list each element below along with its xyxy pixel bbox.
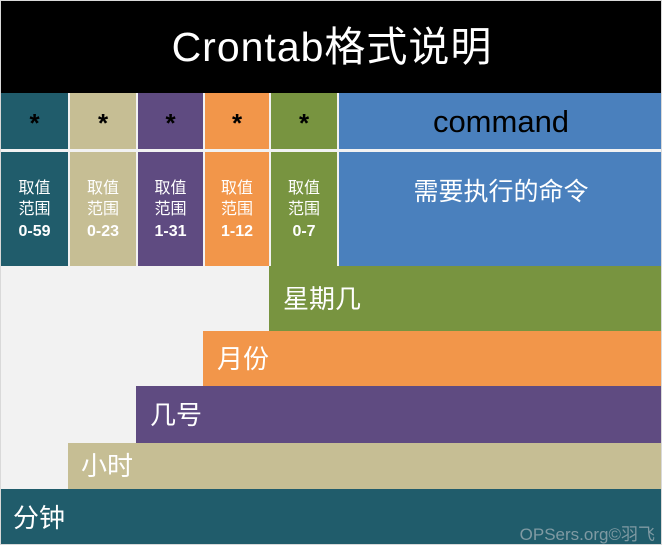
column-separator-4: [269, 93, 271, 266]
star-cell-hour: *: [70, 93, 136, 149]
range-label-line1-hour: 取值: [87, 178, 119, 199]
asterisk-icon-month: *: [232, 110, 242, 136]
band-label-month: 月份: [217, 346, 269, 372]
command-header-label: command: [433, 106, 569, 137]
column-separator-3: [203, 93, 205, 266]
range-value-minute: 0-59: [18, 221, 50, 242]
range-value-day-of-week: 0-7: [292, 221, 315, 242]
range-label-line1-day-of-month: 取值: [154, 178, 186, 199]
band-label-hour: 小时: [81, 453, 133, 479]
range-label-line1-day-of-week: 取值: [288, 178, 320, 199]
range-cell-day-of-month: 取值 范围 1-31: [138, 152, 203, 266]
range-label-line1-minute: 取值: [18, 178, 50, 199]
title-bar: Crontab格式说明: [1, 1, 662, 93]
star-cell-day-of-month: *: [138, 93, 203, 149]
band-month: 月份: [203, 331, 662, 386]
row-separator: [1, 149, 662, 152]
watermark: OPSers.org©羽飞: [520, 526, 655, 543]
range-label-line2-hour: 范围: [87, 199, 119, 220]
asterisk-icon-day-of-month: *: [165, 110, 175, 136]
range-label-line1-month: 取值: [221, 178, 253, 199]
star-cell-month: *: [205, 93, 269, 149]
band-label-day-of-week: 星期几: [283, 286, 361, 312]
range-label-line2-month: 范围: [221, 199, 253, 220]
star-cell-day-of-week: *: [271, 93, 337, 149]
asterisk-icon-minute: *: [29, 110, 39, 136]
range-cell-day-of-week: 取值 范围 0-7: [271, 152, 337, 266]
band-day-of-month: 几号: [136, 386, 662, 443]
column-separator-2: [136, 93, 138, 266]
asterisk-icon-hour: *: [98, 110, 108, 136]
crontab-format-diagram: Crontab格式说明 分钟 小时 几号 月份 星期几 * * * * * co…: [0, 0, 662, 545]
command-header-cell: command: [339, 93, 662, 149]
range-value-hour: 0-23: [87, 221, 119, 242]
range-label-line2-day-of-month: 范围: [154, 199, 186, 220]
column-separator-5: [337, 93, 339, 266]
range-cell-minute: 取值 范围 0-59: [1, 152, 68, 266]
command-body-cell: 需要执行的命令: [339, 152, 662, 266]
band-label-minute: 分钟: [13, 505, 65, 531]
column-separator-1: [68, 93, 70, 266]
star-cell-minute: *: [1, 93, 68, 149]
band-hour: 小时: [68, 443, 662, 489]
page-title: Crontab格式说明: [172, 27, 493, 68]
range-cell-hour: 取值 范围 0-23: [70, 152, 136, 266]
range-cell-month: 取值 范围 1-12: [205, 152, 269, 266]
command-body-label: 需要执行的命令: [413, 180, 588, 205]
range-value-month: 1-12: [221, 221, 253, 242]
range-label-line2-minute: 范围: [18, 199, 50, 220]
asterisk-icon-day-of-week: *: [299, 110, 309, 136]
band-label-day-of-month: 几号: [150, 402, 202, 428]
band-day-of-week: 星期几: [269, 266, 662, 331]
range-label-line2-day-of-week: 范围: [288, 199, 320, 220]
range-value-day-of-month: 1-31: [154, 221, 186, 242]
